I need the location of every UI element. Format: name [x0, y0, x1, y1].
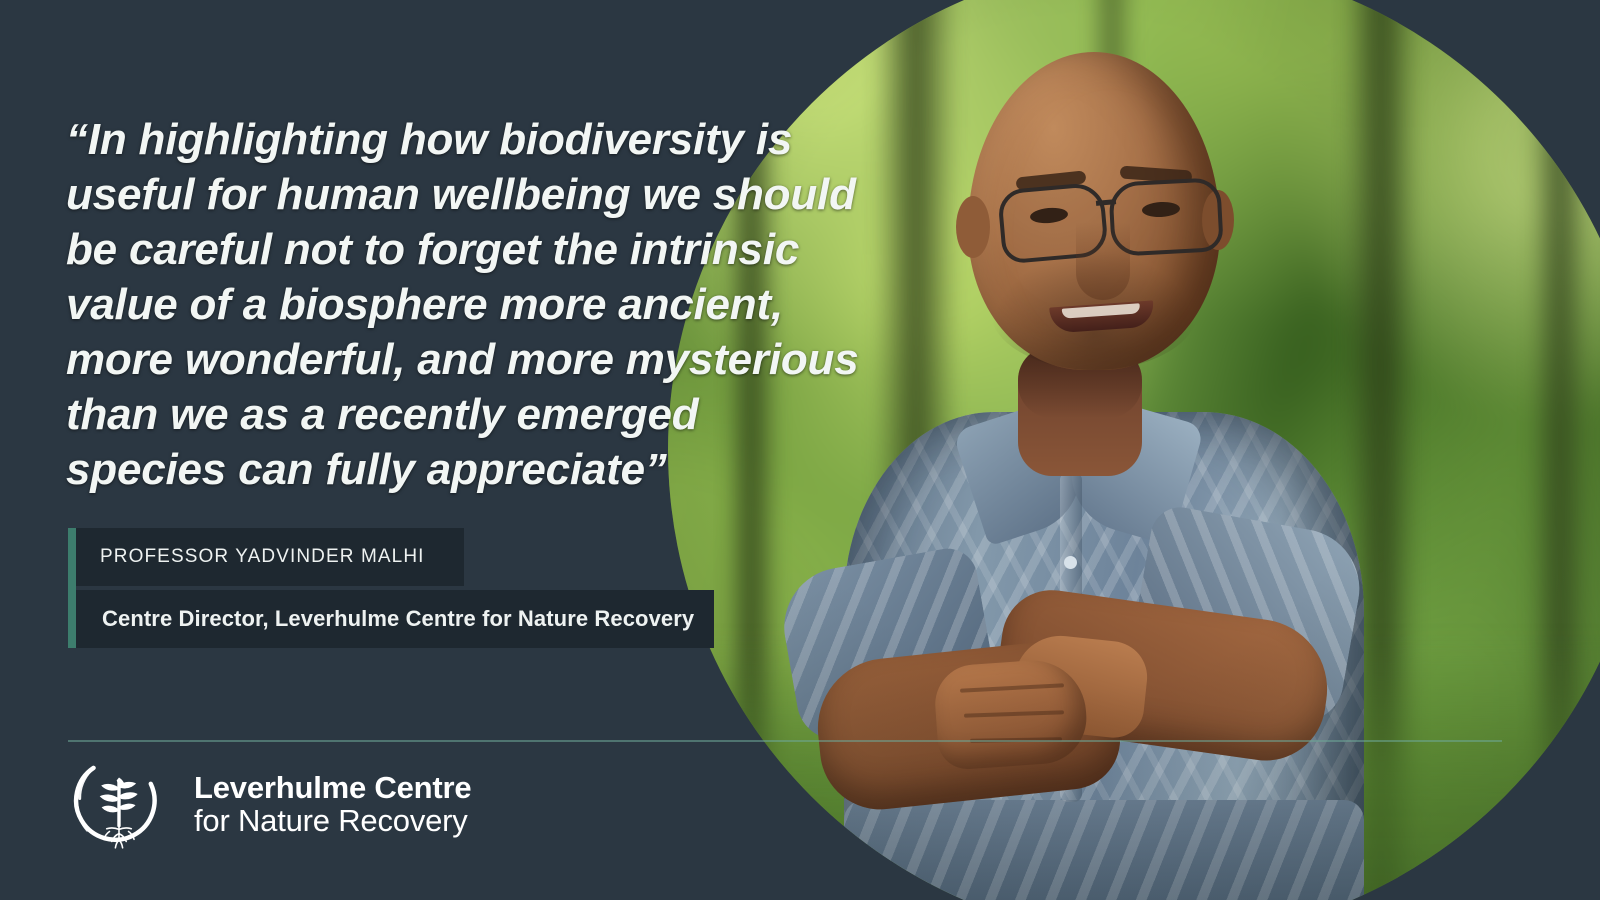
shirt-hem	[844, 800, 1364, 900]
attribution-name-band: PROFESSOR YADVINDER MALHI	[76, 528, 464, 586]
logo-line-1: Leverhulme Centre	[194, 772, 471, 805]
horizontal-divider	[68, 740, 1502, 742]
nose	[1076, 222, 1130, 300]
quote-card: “In highlighting how biodiversity is use…	[0, 0, 1600, 900]
accent-bar	[68, 528, 76, 648]
seedling-in-circle-logo-icon	[66, 752, 172, 858]
attribution-role-band: Centre Director, Leverhulme Centre for N…	[76, 590, 714, 648]
attribution-role: Centre Director, Leverhulme Centre for N…	[76, 606, 694, 632]
logo-wordmark: Leverhulme Centre for Nature Recovery	[194, 772, 471, 838]
logo-line-2: for Nature Recovery	[194, 805, 471, 838]
ear-left	[956, 196, 990, 258]
pull-quote: “In highlighting how biodiversity is use…	[66, 112, 866, 497]
attribution-name: PROFESSOR YADVINDER MALHI	[76, 546, 425, 568]
logo-lockup: Leverhulme Centre for Nature Recovery	[66, 752, 471, 858]
shirt-button	[1064, 556, 1077, 569]
